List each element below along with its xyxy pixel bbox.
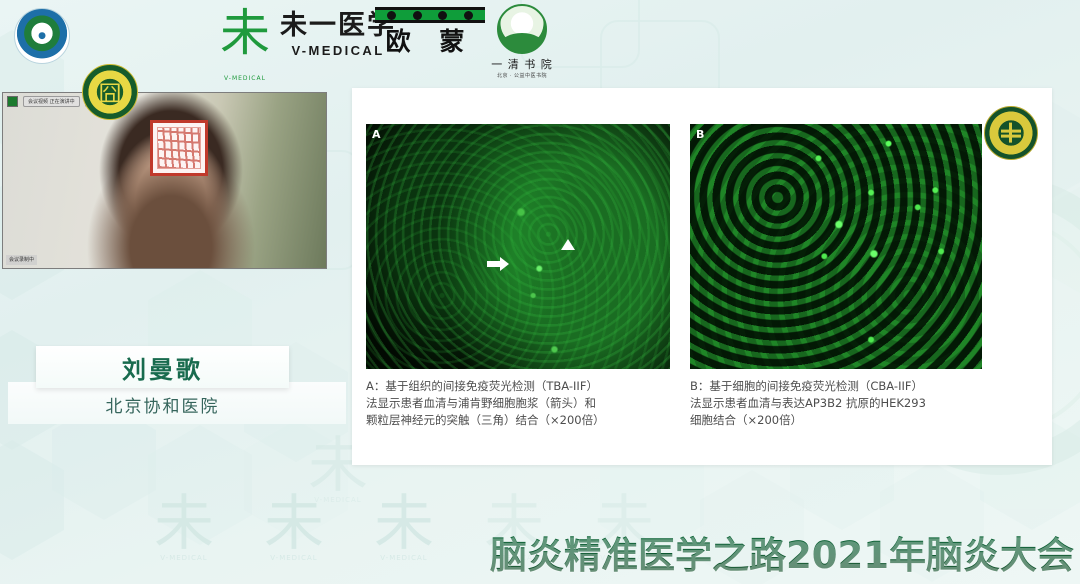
speaker-video-feed[interactable]: 会议视频 正在演讲中 演讲人 · 视频 会议录制中 (2, 92, 327, 269)
seal-inner-glyph: 囧 (99, 74, 122, 108)
wei-glyph-char: 未 (220, 4, 270, 62)
speaker-affiliation-text: 北京协和医院 (106, 392, 220, 417)
panel-a-caption: A：基于组织的间接免疫荧光检测（TBA-IIF） 法显示患者血清与浦肯野细胞胞浆… (366, 378, 670, 429)
watermark-glyph-sub: V-MEDICAL (306, 496, 370, 505)
yiqing-emblem (497, 4, 547, 54)
banner-title: 脑炎精准医学之路2021年脑炎大会 (490, 525, 1074, 579)
red-square-seal-logo (150, 120, 208, 176)
oumeng-logo: 欧 蒙 (375, 7, 485, 55)
oumeng-dot (413, 11, 422, 20)
panel-b-image: B (690, 124, 982, 369)
figure-panel-a: A A：基于组织的间接免疫荧光检测（TBA-IIF） 法显示患者血清与浦肯野细胞… (366, 124, 670, 429)
wei-mark-logo: 未 V-MEDICAL (218, 10, 272, 62)
conference-seal-icon (984, 106, 1038, 160)
cell-based-assay-fluorescence (690, 124, 982, 369)
presentation-slide[interactable]: A A：基于组织的间接免疫荧光检测（TBA-IIF） 法显示患者血清与浦肯野细胞… (352, 88, 1052, 465)
presentation-screen: ncephalitis 未 V-MEDICAL 未 V-MEDICAL 未 V-… (0, 0, 1080, 584)
speaker-name-card: 刘曼歌 (36, 346, 289, 388)
world-federation-seal-logo: ● (14, 8, 70, 64)
seal-inner-glyph: ● (38, 31, 46, 41)
triangle-marker-icon (561, 239, 575, 250)
yiqing-sub: 北京 · 公益中医书院 (490, 72, 554, 79)
yiqing-cn: 一 清 书 院 (490, 56, 554, 72)
association-gold-seal-logo: 囧 (82, 64, 138, 120)
oumeng-dot (387, 11, 396, 20)
wei-glyph-sub: V-MEDICAL (218, 56, 272, 102)
oumeng-top-bar (375, 7, 485, 23)
panel-a-image: A (366, 124, 670, 369)
yiqing-hospital-logo: 一 清 书 院 北京 · 公益中医书院 (490, 4, 554, 79)
wei-mark-glyph: 未 V-MEDICAL (218, 10, 272, 62)
panel-a-tag: A (372, 128, 381, 141)
oumeng-dot (438, 11, 447, 20)
video-bottom-tag: 会议录制中 (6, 255, 37, 265)
oumeng-dot (464, 11, 473, 20)
tissue-iif-fluorescence (366, 124, 670, 369)
panel-b-tag: B (696, 128, 704, 141)
sponsor-logo-bar: ● 囧 未 V-MEDICAL 未一医学 V-MEDICAL 欧 蒙 (0, 0, 1080, 72)
panel-b-caption: B：基于细胞的间接免疫荧光检测（CBA-IIF） 法显示患者血清与表达AP3B2… (690, 378, 982, 429)
speaker-affiliation: 北京协和医院 (36, 385, 289, 423)
conference-banner: 脑炎精准医学之路2021年脑炎大会 (0, 520, 1080, 584)
speaker-name: 刘曼歌 (122, 350, 203, 385)
oumeng-cn: 欧 蒙 (375, 29, 485, 55)
video-badge-primary: 会议视频 正在演讲中 (23, 96, 80, 107)
recording-indicator-icon (7, 96, 18, 107)
figure-panel-b: B B：基于细胞的间接免疫荧光检测（CBA-IIF） 法显示患者血清与表达AP3… (690, 124, 982, 429)
